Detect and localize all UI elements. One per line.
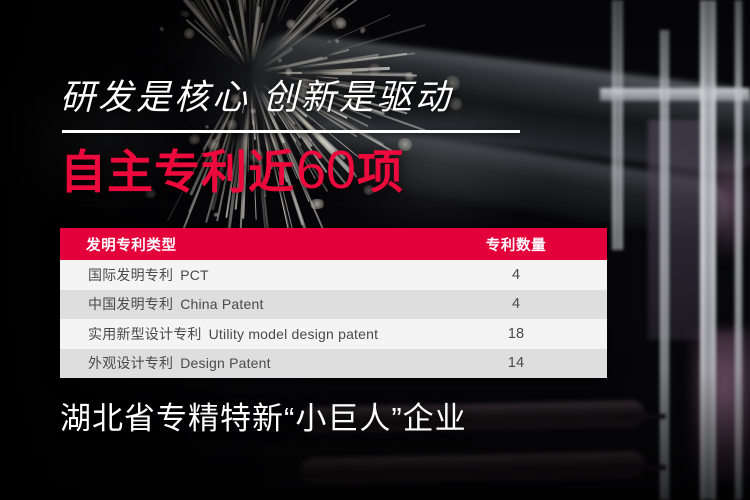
cell-patent-type: 外观设计专利Design Patent [60,353,441,373]
table-row: 实用新型设计专利Utility model design patent18 [60,319,607,349]
table-row: 国际发明专利PCT4 [60,260,607,290]
cell-patent-count: 4 [441,296,607,312]
patent-type-cn: 国际发明专利 [88,267,173,283]
cell-patent-type: 实用新型设计专利Utility model design patent [60,324,441,344]
patent-type-en: PCT [173,267,209,283]
cell-patent-count: 14 [441,355,607,371]
patent-type-cn: 外观设计专利 [88,355,173,371]
cell-patent-count: 4 [441,267,607,283]
cell-patent-count: 18 [441,326,607,342]
patent-type-en: Design Patent [173,355,271,371]
patent-type-en: China Patent [173,296,263,312]
headline-divider [62,130,520,133]
poster-content: 研发是核心 创新是驱动 自主专利近 60 项 发明专利类型 专利数量 国际发明专… [0,0,750,500]
patent-achievement-poster: 研发是核心 创新是驱动 自主专利近 60 项 发明专利类型 专利数量 国际发明专… [0,0,750,500]
headline-secondary-number: 60 [295,143,357,197]
patent-type-en: Utility model design patent [202,326,379,342]
table-row: 外观设计专利Design Patent14 [60,349,607,379]
headline-secondary-prefix: 自主专利近 [60,149,295,195]
cell-patent-type: 国际发明专利PCT [60,265,441,285]
table-body: 国际发明专利PCT4中国发明专利China Patent4实用新型设计专利Uti… [60,260,607,378]
patent-table: 发明专利类型 专利数量 国际发明专利PCT4中国发明专利China Patent… [60,228,607,378]
column-header-patent-type: 发明专利类型 [60,234,441,255]
headline-secondary: 自主专利近 60 项 [60,143,404,197]
patent-type-cn: 中国发明专利 [88,296,173,312]
footer-tagline: 湖北省专精特新“小巨人”企业 [60,403,467,434]
headline-secondary-suffix: 项 [357,149,404,195]
cell-patent-type: 中国发明专利China Patent [60,294,441,314]
column-header-patent-count: 专利数量 [441,234,607,255]
headline-primary: 研发是核心 创新是驱动 [60,80,453,115]
table-header-row: 发明专利类型 专利数量 [60,228,607,260]
patent-type-cn: 实用新型设计专利 [88,326,202,342]
table-row: 中国发明专利China Patent4 [60,290,607,320]
